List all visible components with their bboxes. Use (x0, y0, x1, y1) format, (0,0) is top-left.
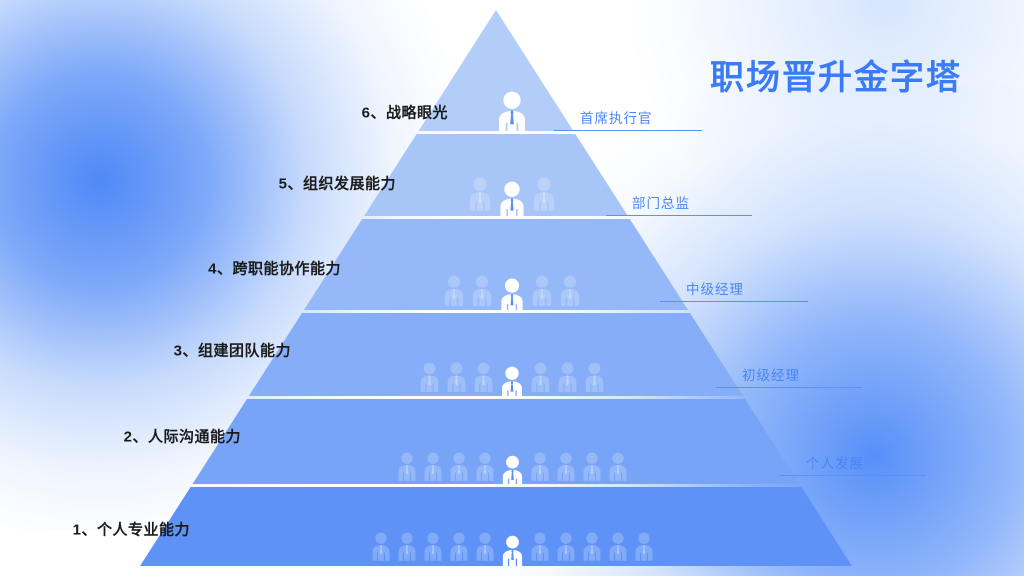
tier-shape-5 (0, 134, 1024, 216)
role-label-text-5: 部门总监 (632, 196, 690, 211)
role-label-underline-6 (554, 130, 702, 131)
role-label-underline-3 (716, 387, 862, 388)
tier-label-3: 3、组建团队能力 (174, 340, 291, 361)
pyramid-tier-3[interactable] (0, 313, 1024, 396)
role-label-4: 中级经理 (686, 278, 744, 302)
role-label-text-2: 个人发展 (806, 456, 864, 471)
pyramid-tier-6[interactable] (0, 10, 1024, 131)
tier-shape-6 (0, 10, 1024, 131)
pyramid-tier-4[interactable] (0, 219, 1024, 310)
tier-label-2: 2、人际沟通能力 (124, 426, 241, 447)
slide-canvas: 职场晋升金字塔 (0, 0, 1024, 576)
pyramid-chart: 6、战略眼光5、组织发展能力4、跨职能协作能力3、组建团队能力2、人际沟通能力1… (0, 0, 1024, 576)
role-label-text-3: 初级经理 (742, 368, 800, 383)
role-label-6: 首席执行官 (580, 107, 653, 131)
role-label-underline-4 (660, 301, 808, 302)
pyramid-tier-5[interactable] (0, 134, 1024, 216)
tier-label-4: 4、跨职能协作能力 (208, 258, 341, 279)
role-label-3: 初级经理 (742, 364, 800, 388)
role-label-5: 部门总监 (632, 192, 690, 216)
tier-shape-3 (0, 313, 1024, 396)
tier-label-5: 5、组织发展能力 (279, 173, 396, 194)
role-label-text-6: 首席执行官 (580, 111, 653, 126)
role-label-text-4: 中级经理 (686, 282, 744, 297)
tier-label-6: 6、战略眼光 (362, 102, 448, 123)
role-label-2: 个人发展 (806, 452, 864, 476)
tier-label-1: 1、个人专业能力 (73, 519, 190, 540)
role-label-underline-5 (606, 215, 752, 216)
role-label-underline-2 (780, 475, 926, 476)
tier-shape-4 (0, 219, 1024, 310)
